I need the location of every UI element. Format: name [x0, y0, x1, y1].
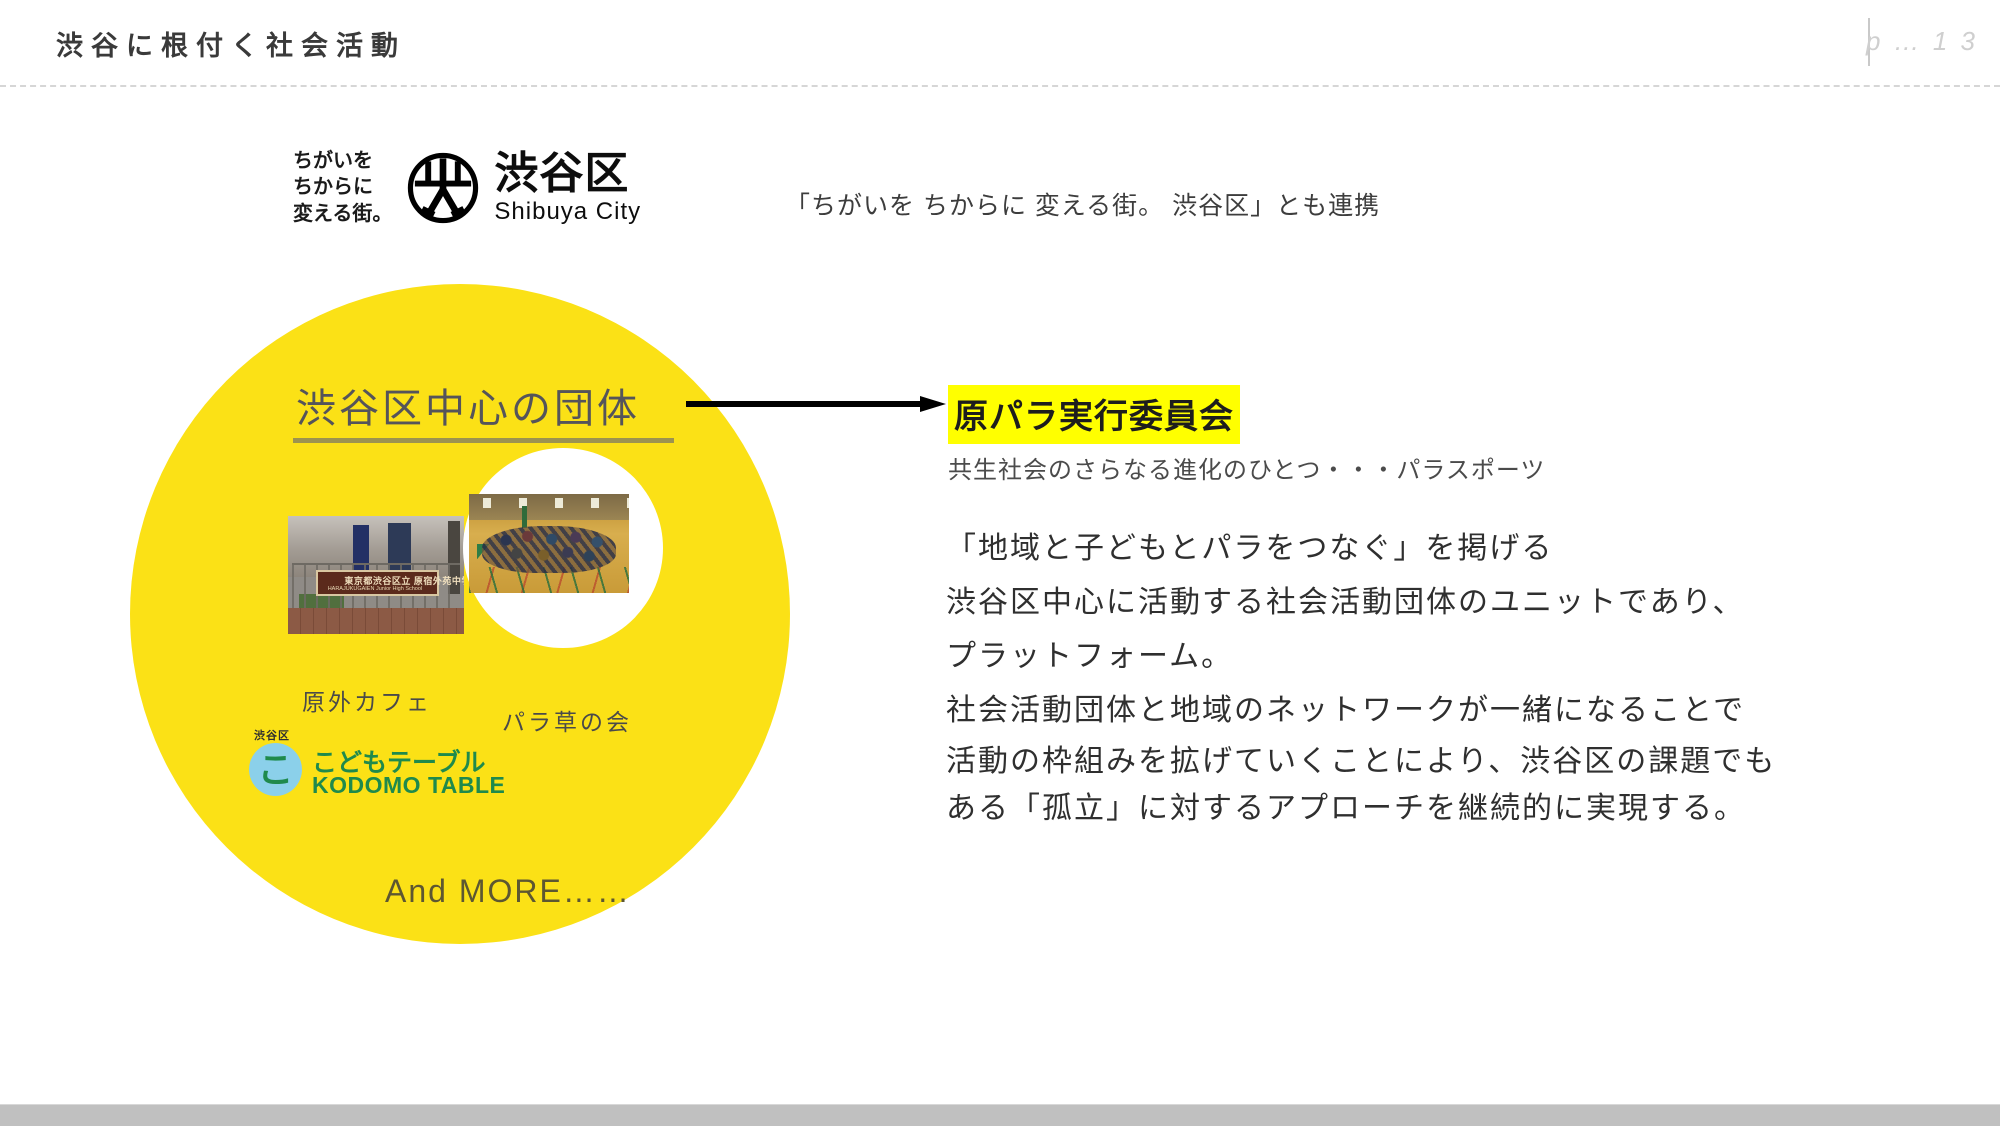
photo-brick-wall — [288, 608, 464, 634]
header-dashed-rule — [0, 85, 2000, 87]
kodomo-ward-label: 渋谷区 — [254, 727, 290, 743]
photo-gym-goal-post — [522, 506, 527, 528]
circle-heading-underline — [293, 438, 674, 443]
photo-gym-lights — [469, 498, 629, 508]
description-line: 社会活動団体と地域のネットワークが一緒になることで — [946, 684, 1956, 738]
harajukugaien-school-gate-photo: 東京都渋谷区立 原宿外苑中学校 HARAJUKUGAIEN Junior Hig… — [288, 516, 464, 634]
para-kusa-no-kai-group-photo — [469, 494, 629, 593]
shibuya-city-emblem-icon — [406, 151, 480, 225]
organization-subtitle: 共生社会のさらなる進化のひとつ・・・パラスポーツ — [948, 450, 1545, 485]
logo-tagline: ちがいを ちからに 変える街。 — [293, 148, 392, 227]
logo-tagline-line-2: ちからに — [293, 174, 392, 200]
page-number-indicator: p … 1 3 — [1866, 26, 1978, 57]
logo-name-jp: 渋谷区 — [494, 152, 641, 196]
description-line: 渋谷区中心に活動する社会活動団体のユニットであり、 — [946, 576, 1956, 630]
description-line: プラットフォーム。 — [946, 630, 1956, 684]
partner-note: 「ちがいを ちからに 変える街。 渋谷区」とも連携 — [785, 186, 1380, 222]
member-label-para: パラ草の会 — [502, 703, 632, 737]
logo-name-en: Shibuya City — [494, 200, 641, 224]
description-line: ある「孤立」に対するアプローチを継続的に実現する。 — [946, 785, 1956, 832]
photo-crowd — [482, 526, 616, 574]
kodomo-name-en: KODOMO TABLE — [312, 772, 505, 799]
organization-description: 「地域と子どもとパラをつなぐ」を掲げる 渋谷区中心に活動する社会活動団体のユニッ… — [946, 522, 1956, 832]
circle-heading: 渋谷区中心の団体 — [296, 376, 640, 434]
photo-school-sign: 東京都渋谷区立 原宿外苑中学校 HARAJUKUGAIEN Junior Hig… — [316, 570, 439, 596]
description-line: 「地域と子どもとパラをつなぐ」を掲げる — [946, 522, 1956, 576]
slide-header: 渋谷に根付く社会活動 p … 1 3 — [0, 0, 2000, 86]
logo-tagline-line-1: ちがいを — [293, 148, 392, 174]
kodomo-ko-glyph: こ — [249, 743, 302, 796]
and-more-label: And MORE…… — [385, 873, 631, 910]
logo-tagline-line-3: 変える街。 — [293, 201, 392, 227]
organization-title: 原パラ実行委員会 — [948, 385, 1240, 444]
kodomo-table-logo: 渋谷区 こ こどもテーブル KODOMO TABLE — [249, 727, 479, 799]
logo-names: 渋谷区 Shibuya City — [494, 152, 641, 224]
description-line: 活動の枠組みを拡げていくことにより、渋谷区の課題でも — [946, 738, 1956, 785]
school-sign-en: HARAJUKUGAIEN Junior High School — [328, 586, 422, 592]
bottom-scrollbar[interactable] — [0, 1104, 2000, 1126]
page-title: 渋谷に根付く社会活動 — [56, 24, 406, 63]
member-label-cafe: 原外カフェ — [302, 683, 432, 717]
shibuya-city-logo: ちがいを ちからに 変える街。 渋谷区 Shibuya City — [293, 148, 641, 227]
connector-arrow-icon — [686, 394, 946, 414]
